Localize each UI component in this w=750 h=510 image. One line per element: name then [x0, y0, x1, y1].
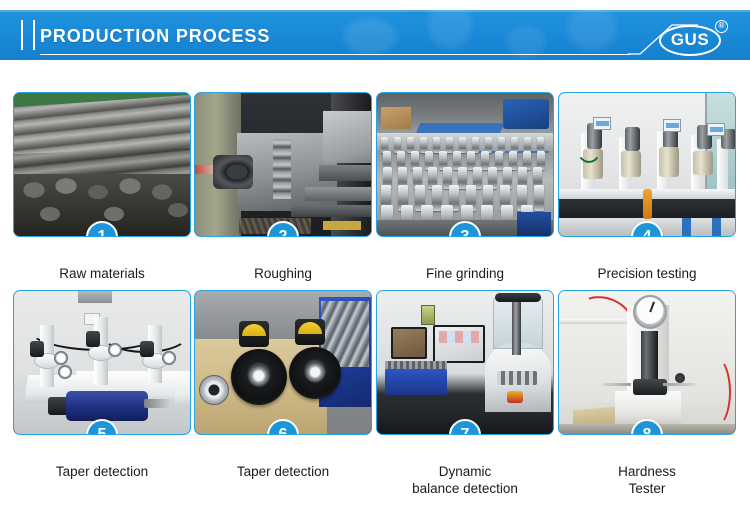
step-caption: Precision testing — [558, 265, 736, 282]
header-underline — [40, 54, 630, 55]
header-accent-bar-1 — [21, 20, 23, 50]
measuring-stands-photo — [14, 291, 190, 434]
hardness-tester-photo — [559, 291, 735, 434]
balancing-machine-photo — [377, 291, 553, 434]
step-caption: Raw materials — [13, 265, 191, 282]
process-step-6[interactable]: 6 Taper detection — [194, 290, 372, 480]
step-caption-line1: Roughing — [194, 265, 372, 282]
lab-test-rig-photo — [559, 93, 735, 236]
step-thumbnail[interactable]: 4 — [558, 92, 736, 237]
process-step-1[interactable]: 1 Raw materials — [13, 92, 191, 282]
process-step-5[interactable]: 5 Taper detection — [13, 290, 191, 480]
step-caption: Fine grinding — [376, 265, 554, 282]
step-caption-line2: Tester — [558, 480, 736, 497]
header-top-highlight — [0, 10, 750, 12]
process-step-3[interactable]: 3 Fine grinding — [376, 92, 554, 282]
brand-logo: GUS ® — [659, 25, 727, 56]
step-caption: Hardness Tester — [558, 463, 736, 497]
step-caption-line2: balance detection — [376, 480, 554, 497]
step-caption: Taper detection — [13, 463, 191, 480]
cnc-lathe-photo — [195, 93, 371, 236]
process-row-2: 5 Taper detection 6 — [0, 290, 750, 505]
raw-materials-photo — [14, 93, 190, 236]
step-caption-line1: Fine grinding — [376, 265, 554, 282]
taper-gauges-photo — [195, 291, 371, 434]
step-caption-line1: Precision testing — [558, 265, 736, 282]
step-caption: Taper detection — [194, 463, 372, 480]
step-thumbnail[interactable]: 3 — [376, 92, 554, 237]
step-thumbnail[interactable]: 5 — [13, 290, 191, 435]
registered-trademark-icon: ® — [715, 20, 728, 33]
step-thumbnail[interactable]: 2 — [194, 92, 372, 237]
process-step-2[interactable]: 2 Roughing — [194, 92, 372, 282]
header-accent-bar-2 — [33, 20, 35, 50]
process-step-4[interactable]: 4 Precision testing — [558, 92, 736, 282]
tool-holders-photo — [377, 93, 553, 236]
process-step-8[interactable]: 8 Hardness Tester — [558, 290, 736, 497]
step-thumbnail[interactable]: 7 — [376, 290, 554, 435]
step-caption-line1: Hardness — [558, 463, 736, 480]
step-caption-line1: Taper detection — [13, 463, 191, 480]
step-thumbnail[interactable]: 1 — [13, 92, 191, 237]
logo-text: GUS — [659, 25, 721, 56]
step-caption-line1: Taper detection — [194, 463, 372, 480]
step-caption: Roughing — [194, 265, 372, 282]
step-caption: Dynamic balance detection — [376, 463, 554, 497]
process-row-1: 1 Raw materials 2 Roughing — [0, 92, 750, 290]
step-caption-line1: Raw materials — [13, 265, 191, 282]
step-thumbnail[interactable]: 6 — [194, 290, 372, 435]
page-title: PRODUCTION PROCESS — [40, 26, 270, 47]
process-step-7[interactable]: 7 Dynamic balance detection — [376, 290, 554, 497]
page-header: PRODUCTION PROCESS GUS ® — [0, 10, 750, 60]
step-caption-line1: Dynamic — [376, 463, 554, 480]
process-steps-grid: 1 Raw materials 2 Roughing — [0, 92, 750, 505]
step-thumbnail[interactable]: 8 — [558, 290, 736, 435]
